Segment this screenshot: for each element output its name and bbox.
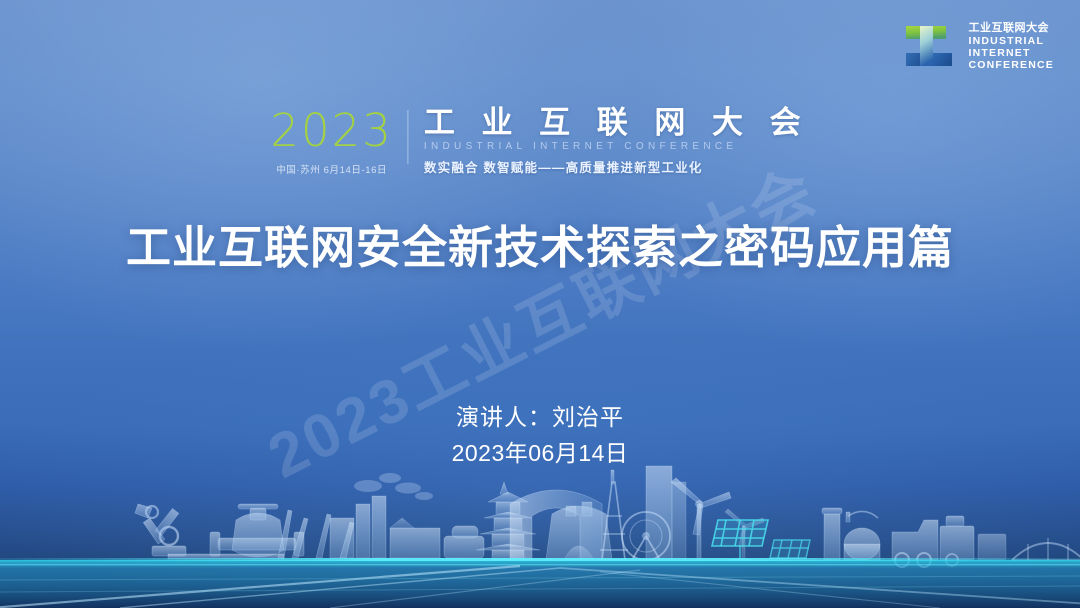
pagoda-icon xyxy=(476,482,540,560)
corner-logo-line-internet: INTERNET xyxy=(968,47,1054,59)
chemical-tank-icon xyxy=(822,508,880,560)
gate-of-the-orient-icon xyxy=(510,490,602,560)
background-glow-left xyxy=(0,0,640,360)
conference-name-en: INDUSTRIAL INTERNET CONFERENCE xyxy=(424,141,810,152)
corner-logo-line-conference: CONFERENCE xyxy=(968,59,1054,71)
factory-icon xyxy=(330,496,484,558)
oil-pumpjack-icon xyxy=(168,510,354,559)
conference-lockup: 2023 中国·苏州 6月14日-16日 工 业 互 联 网 大 会 INDUS… xyxy=(270,106,809,176)
high-rise-tower-icon xyxy=(646,466,686,560)
conference-year-block: 2023 中国·苏州 6月14日-16日 xyxy=(270,106,407,176)
broadcast-tower-icon xyxy=(600,470,628,560)
corner-conference-logo: 工业互联网大会 INDUSTRIAL INTERNET CONFERENCE xyxy=(902,18,1054,76)
industrial-valve-icon xyxy=(210,504,304,557)
solar-panel-icon xyxy=(770,540,810,558)
slide-title: 工业互联网安全新技术探索之密码应用篇 xyxy=(0,222,1080,274)
presentation-slide: 工业互联网大会 INDUSTRIAL INTERNET CONFERENCE 2… xyxy=(0,0,1080,608)
conference-name-block: 工 业 互 联 网 大 会 INDUSTRIAL INTERNET CONFER… xyxy=(408,106,810,176)
corner-logo-wordmark: 工业互联网大会 INDUSTRIAL INTERNET CONFERENCE xyxy=(968,22,1054,71)
solar-panel-icon xyxy=(712,520,768,560)
speaker-date: 2023年06月14日 xyxy=(0,436,1080,472)
corner-logo-name-cn: 工业互联网大会 xyxy=(968,22,1054,35)
conference-slogan: 数实融合 数智赋能——高质量推进新型工业化 xyxy=(424,157,810,176)
industrial-internet-conference-logo-icon xyxy=(902,18,958,76)
speaker-presenter: 演讲人：刘治平 xyxy=(0,400,1080,436)
wind-turbine-icon xyxy=(725,509,764,560)
chimney-smoke-icon xyxy=(354,473,433,500)
corner-logo-line-industrial: INDUSTRIAL xyxy=(968,35,1054,47)
conference-place-date: 中国·苏州 6月14日-16日 xyxy=(276,162,387,176)
speaker-block: 演讲人：刘治平 2023年06月14日 xyxy=(0,400,1080,471)
conference-name-cn: 工 业 互 联 网 大 会 xyxy=(424,106,810,139)
freight-train-icon xyxy=(892,516,1006,567)
ferris-wheel-icon xyxy=(622,512,670,560)
wind-turbine-icon xyxy=(671,478,731,560)
stadium-icon xyxy=(546,502,612,560)
conference-year: 2023 xyxy=(270,108,393,153)
arch-bridge-icon xyxy=(1012,538,1080,560)
robot-arm-icon xyxy=(135,504,186,556)
